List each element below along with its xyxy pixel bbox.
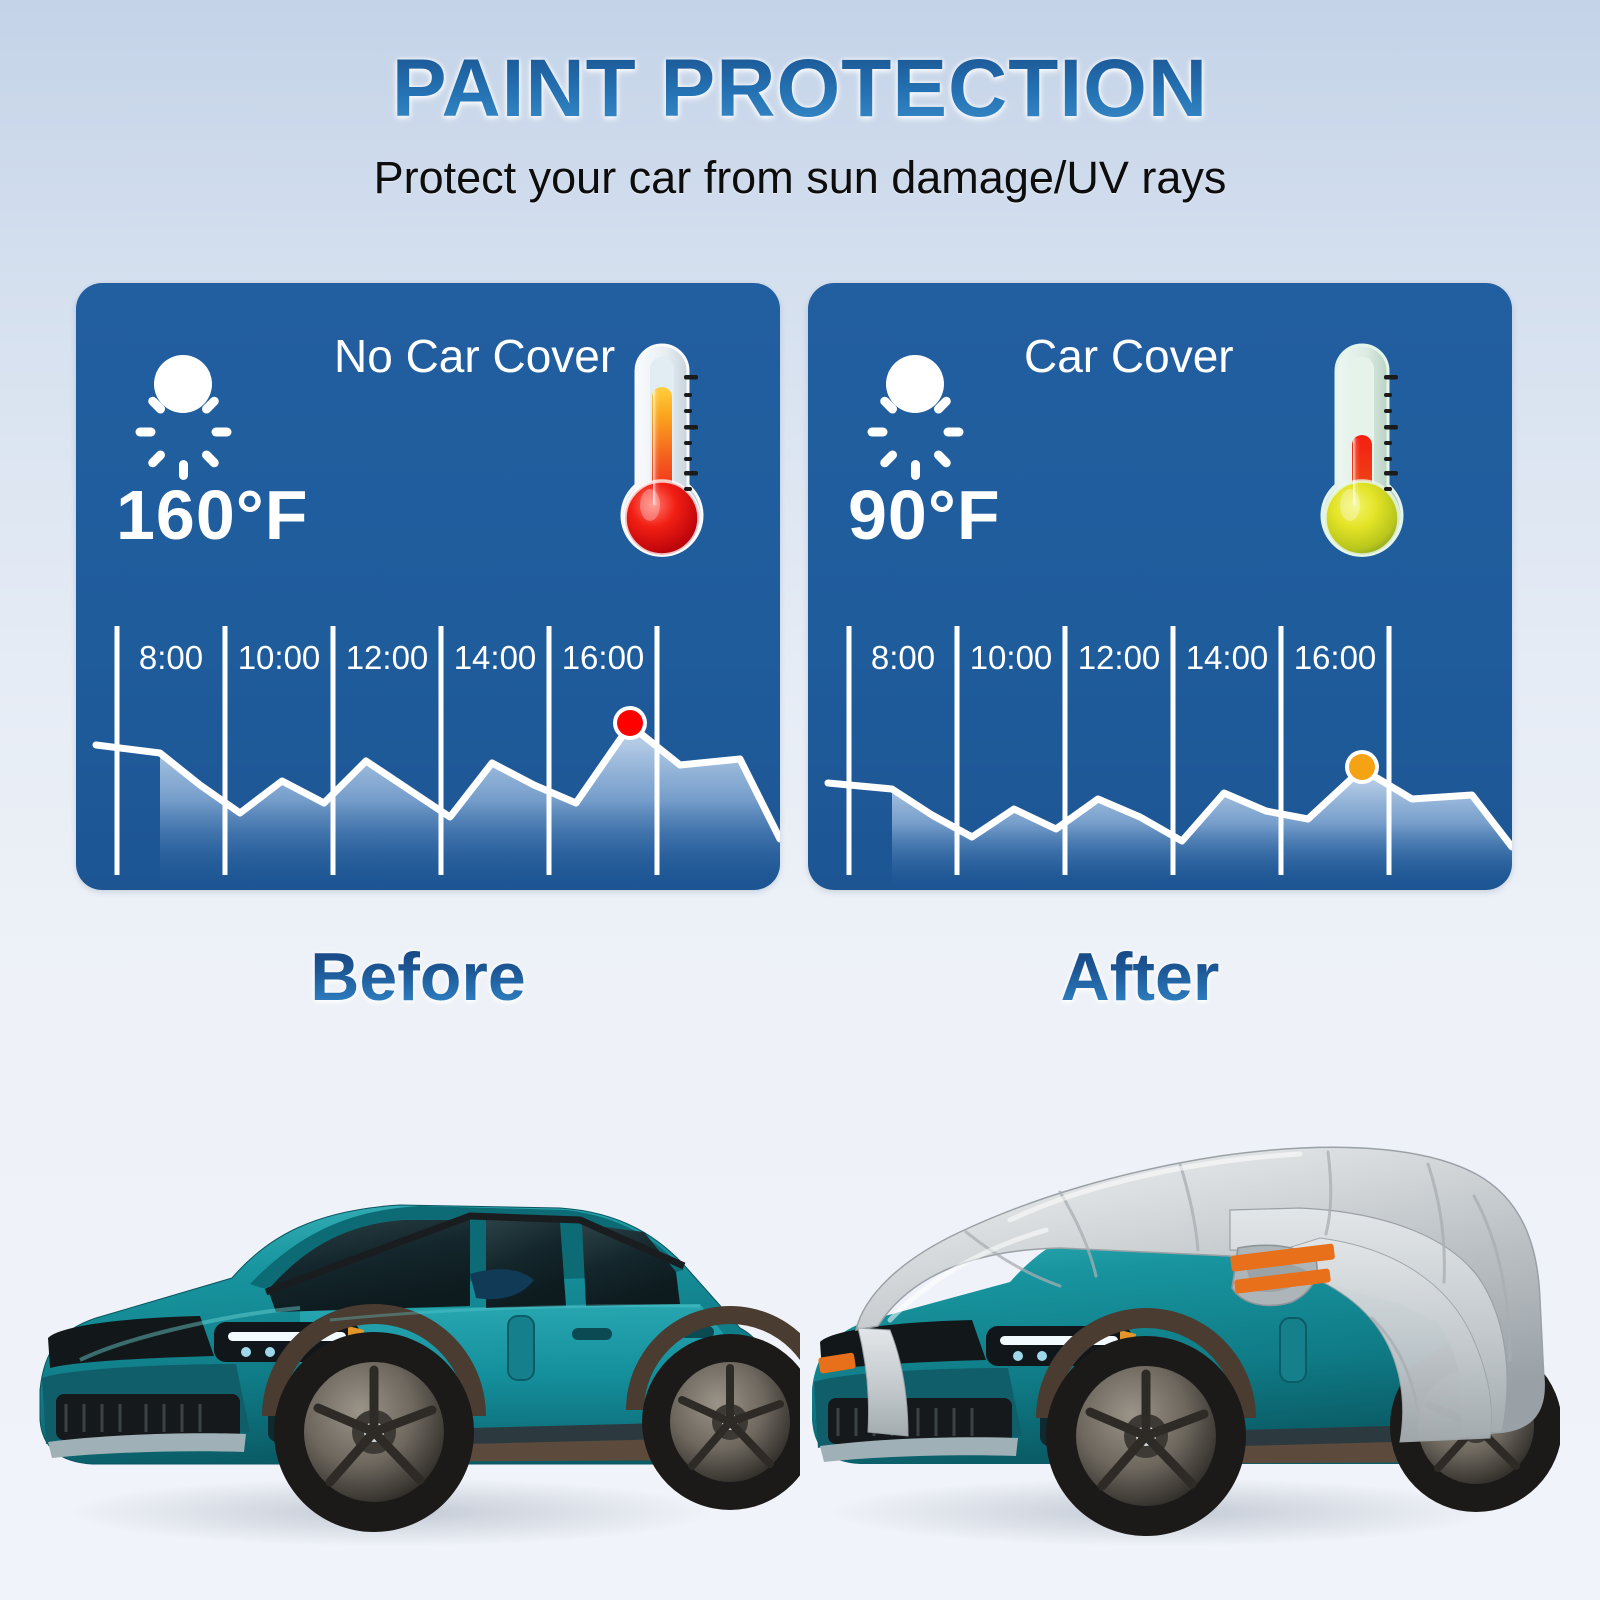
x-tick-label: 14:00: [454, 639, 537, 677]
x-tick-label: 10:00: [238, 639, 321, 677]
sun-ray: [932, 449, 953, 470]
chart-peak-marker-dot-left: [617, 710, 643, 736]
before-label: Before: [68, 940, 768, 1015]
sun-ray: [200, 449, 221, 470]
chart-peak-marker-dot-right: [1349, 754, 1375, 780]
car-uncovered: [0, 1060, 800, 1600]
comparison-panels: No Car Cover 160°F: [0, 283, 1600, 890]
sun-ray: [911, 384, 920, 404]
sun-ray: [135, 428, 155, 437]
charge-port: [1280, 1318, 1306, 1382]
panel-header-cover: Car Cover 90°F: [808, 283, 1512, 583]
thermometer-hot-icon: [596, 335, 716, 567]
chart-no-car-cover: 8:00 10:00 12:00 14:00 16:00: [76, 613, 780, 890]
panel-no-car-cover: No Car Cover 160°F: [76, 283, 780, 890]
sun-ray: [867, 428, 887, 437]
sun-ray: [878, 449, 899, 470]
x-tick-label: 14:00: [1186, 639, 1269, 677]
thermometer-cool-icon: [1296, 335, 1416, 567]
panel-car-cover: Car Cover 90°F: [808, 283, 1512, 890]
x-tick-label: 12:00: [346, 639, 429, 677]
page-subtitle: Protect your car from sun damage/UV rays: [0, 130, 1600, 204]
cover-label-cover: Car Cover: [1024, 329, 1234, 383]
charge-port: [508, 1316, 534, 1380]
cover-label-no-cover: No Car Cover: [334, 329, 615, 383]
x-tick-label: 8:00: [139, 639, 203, 677]
sun-ray: [943, 428, 963, 437]
before-after-labels: Before After: [0, 940, 1600, 1050]
x-tick-label: 10:00: [970, 639, 1053, 677]
sun-ray: [146, 449, 167, 470]
door-handle: [572, 1328, 612, 1340]
x-tick-label: 16:00: [1294, 639, 1377, 677]
sun-ray: [179, 384, 188, 404]
panel-header-no-cover: No Car Cover 160°F: [76, 283, 780, 583]
sun-icon: [124, 325, 242, 443]
x-tick-label: 8:00: [871, 639, 935, 677]
temperature-value-cover: 90°F: [848, 475, 1001, 555]
header: PAINT PROTECTION Protect your car from s…: [0, 0, 1600, 204]
page-title: PAINT PROTECTION: [0, 0, 1600, 130]
chart-area-fill-left: [160, 725, 780, 890]
front-wheel: [274, 1332, 474, 1532]
chart-car-cover: 8:00 10:00 12:00 14:00 16:00: [808, 613, 1512, 890]
x-tick-label: 12:00: [1078, 639, 1161, 677]
after-label: After: [790, 940, 1490, 1015]
sun-ray: [211, 428, 231, 437]
temperature-value-no-cover: 160°F: [116, 475, 309, 555]
car-images: [0, 1060, 1600, 1600]
x-tick-label: 16:00: [562, 639, 645, 677]
front-wheel: [1046, 1336, 1246, 1536]
car-covered: [760, 1060, 1560, 1600]
sun-icon: [856, 325, 974, 443]
rear-side-window: [582, 1224, 680, 1306]
